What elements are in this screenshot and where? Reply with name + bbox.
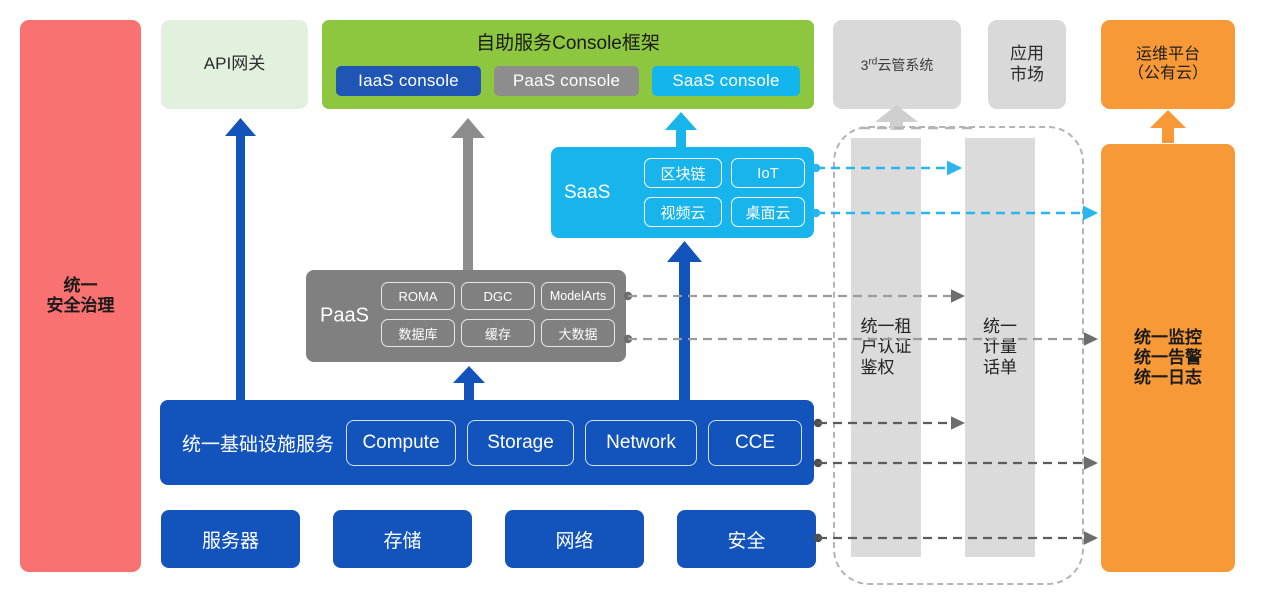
infra-chip-network[interactable]: Network: [585, 420, 697, 466]
unified-monitoring-label: 统一监控 统一告警 统一日志: [1134, 328, 1202, 388]
bottom-box-security: 安全: [677, 510, 816, 568]
paas-chip-modelarts[interactable]: ModelArts: [541, 282, 615, 310]
unified-infrastructure-service-bar: 统一基础设施服务 Compute Storage Network CCE: [160, 400, 814, 485]
arrow-infra-to-paas: [453, 366, 485, 401]
third-party-cloud-management-box: 3rd云管系统: [833, 20, 961, 109]
saas-chip-blockchain[interactable]: 区块链: [644, 158, 722, 188]
paas-chip-cache[interactable]: 缓存: [461, 319, 535, 347]
saas-chip-iot[interactable]: IoT: [731, 158, 805, 188]
api-gateway-label: API网关: [204, 54, 265, 74]
saas-console-chip[interactable]: SaaS console: [652, 66, 800, 96]
app-market-box: 应用 市场: [988, 20, 1066, 109]
infra-chip-storage[interactable]: Storage: [467, 420, 574, 466]
iaas-console-chip[interactable]: IaaS console: [336, 66, 481, 96]
infra-chip-cce[interactable]: CCE: [708, 420, 802, 466]
paas-chip-dgc[interactable]: DGC: [461, 282, 535, 310]
paas-chip-bigdata[interactable]: 大数据: [541, 319, 615, 347]
unified-tenant-auth-column: 统一租 户认证 鉴权: [851, 138, 921, 557]
bottom-box-storage: 存储: [333, 510, 472, 568]
saas-layer-box: SaaS 区块链 IoT 视频云 桌面云: [551, 147, 814, 238]
unified-security-governance-label: 统一 安全治理: [47, 276, 115, 316]
arrow-saas-to-saas-console: [665, 112, 697, 148]
paas-layer-box: PaaS ROMA DGC ModelArts 数据库 缓存 大数据: [306, 270, 626, 362]
unified-metering-billing-label: 统一 计量 话单: [983, 317, 1017, 377]
unified-tenant-auth-label: 统一租 户认证 鉴权: [861, 317, 912, 377]
paas-console-chip[interactable]: PaaS console: [494, 66, 639, 96]
saas-layer-title: SaaS: [564, 182, 610, 204]
unified-security-governance-panel: 统一 安全治理: [20, 20, 141, 572]
saas-chip-video-cloud[interactable]: 视频云: [644, 197, 722, 227]
console-frame-title: 自助服务Console框架: [322, 28, 814, 55]
saas-chip-desktop-cloud[interactable]: 桌面云: [731, 197, 805, 227]
bottom-box-network: 网络: [505, 510, 644, 568]
architecture-diagram: 统一 安全治理 API网关 自助服务Console框架 IaaS console…: [0, 0, 1265, 605]
arrow-infra-to-saas: [667, 241, 702, 400]
app-market-label: 应用 市场: [1010, 44, 1044, 84]
paas-layer-title: PaaS: [320, 305, 369, 328]
arrow-paas-to-console: [451, 118, 485, 270]
api-gateway-box: API网关: [161, 20, 308, 109]
paas-chip-database[interactable]: 数据库: [381, 319, 455, 347]
ops-platform-label: 运维平台 （公有云）: [1128, 46, 1208, 84]
paas-chip-roma[interactable]: ROMA: [381, 282, 455, 310]
third-party-cloud-label: 3rd云管系统: [861, 55, 934, 75]
bottom-box-server: 服务器: [161, 510, 300, 568]
arrow-ops-panel-to-ops-top: [1150, 110, 1186, 143]
unified-infrastructure-title: 统一基础设施服务: [182, 429, 334, 456]
arrow-infra-to-api-gateway: [225, 118, 256, 400]
self-service-console-frame: 自助服务Console框架 IaaS console PaaS console …: [322, 20, 814, 109]
unified-metering-billing-column: 统一 计量 话单: [965, 138, 1035, 557]
unified-monitoring-panel: 统一监控 统一告警 统一日志: [1101, 144, 1235, 572]
infra-chip-compute[interactable]: Compute: [346, 420, 456, 466]
ops-platform-public-cloud-box: 运维平台 （公有云）: [1101, 20, 1235, 109]
